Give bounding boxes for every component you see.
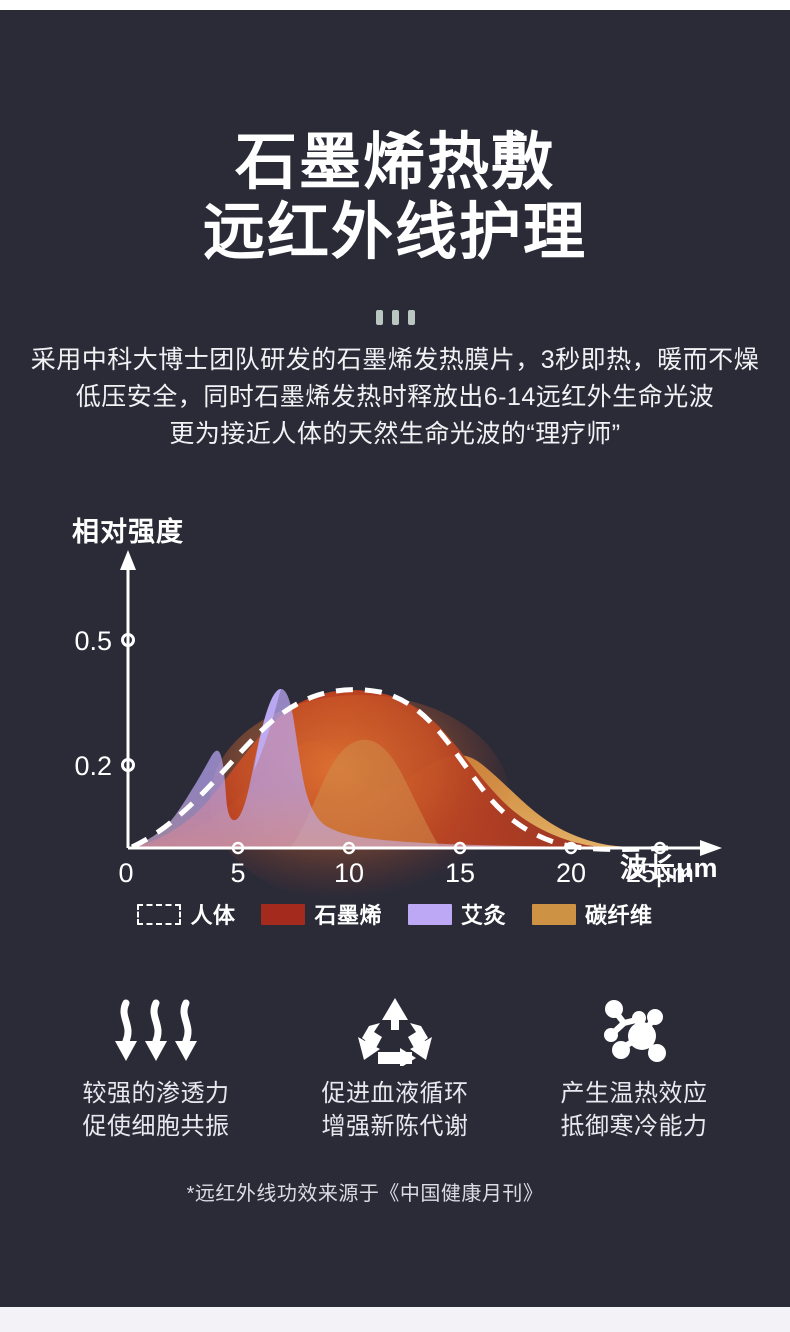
recycle-icon [356,995,434,1067]
down-arrows-icon [110,995,202,1067]
feature-line-2: 抵御寒冷能力 [561,1110,708,1143]
legend-item-human-body: 人体 [137,898,235,930]
legend-item-moxibustion: 艾灸 [408,898,506,930]
feature-line-1: 产生温热效应 [561,1077,708,1110]
legend-label: 碳纤维 [585,898,653,930]
legend-swatch-dashed-icon [137,904,181,925]
feature-item-penetration: 较强的渗透力 促使细胞共振 [40,995,272,1143]
chart-legend: 人体 石墨烯 艾灸 碳纤维 [0,898,790,930]
feature-text: 较强的渗透力 促使细胞共振 [83,1077,230,1143]
feature-list: 较强的渗透力 促使细胞共振 [40,995,750,1143]
feature-item-circulation: 促进血液循环 增强新陈代谢 [279,995,511,1143]
top-divider [0,0,790,10]
x-tick-label-0: 0 [118,858,133,888]
footnote: *远红外线功效来源于《中国健康月刊》 [0,1177,790,1206]
page-title: 石墨烯热敷 远红外线护理 [0,128,790,268]
feature-line-1: 促进血液循环 [322,1077,469,1110]
dot-icon [376,310,383,325]
y-tick-label-0-5: 0.5 [74,626,112,656]
legend-label: 艾灸 [461,898,506,930]
x-tick-label-10: 10 [334,858,364,888]
dot-icon [392,310,399,325]
legend-label: 人体 [190,898,235,930]
x-tick-label-15: 15 [445,858,475,888]
chart-x-axis-title: 波长μm [620,846,719,885]
lead-paragraph: 采用中科大博士团队研发的石墨烯发热膜片，3秒即热，暖而不燥 低压安全，同时石墨烯… [0,342,790,453]
feature-text: 产生温热效应 抵御寒冷能力 [561,1077,708,1143]
y-axis-arrow [120,550,136,570]
legend-swatch-icon [532,904,576,925]
spectrum-chart: 相对强度 [60,500,740,910]
x-tick-label-5: 5 [230,858,245,888]
legend-label: 石墨烯 [314,898,382,930]
feature-text: 促进血液循环 增强新陈代谢 [322,1077,469,1143]
lead-line-2: 低压安全，同时石墨烯发热时释放出6-14远红外生命光波 [0,379,790,416]
feature-item-warmth: 产生温热效应 抵御寒冷能力 [518,995,750,1143]
promo-page: 石墨烯热敷 远红外线护理 采用中科大博士团队研发的石墨烯发热膜片，3秒即热，暖而… [0,0,790,1332]
bottom-divider [0,1307,790,1332]
headline-line-1: 石墨烯热敷 [235,128,555,197]
y-tick-label-0-2: 0.2 [74,751,112,781]
headline-line-2: 远红外线护理 [0,198,790,268]
x-tick-label-20: 20 [556,858,586,888]
feature-line-2: 促使细胞共振 [83,1110,230,1143]
molecule-icon [592,995,676,1067]
legend-item-graphene: 石墨烯 [261,898,382,930]
legend-swatch-icon [261,904,305,925]
feature-line-2: 增强新陈代谢 [322,1110,469,1143]
lead-line-3: 更为接近人体的天然生命光波的“理疗师” [0,416,790,453]
legend-swatch-icon [408,904,452,925]
feature-line-1: 较强的渗透力 [83,1077,230,1110]
dot-icon [408,310,415,325]
legend-item-carbon-fiber: 碳纤维 [532,898,653,930]
lead-line-1: 采用中科大博士团队研发的石墨烯发热膜片，3秒即热，暖而不燥 [0,342,790,379]
decorative-dots [0,310,790,325]
